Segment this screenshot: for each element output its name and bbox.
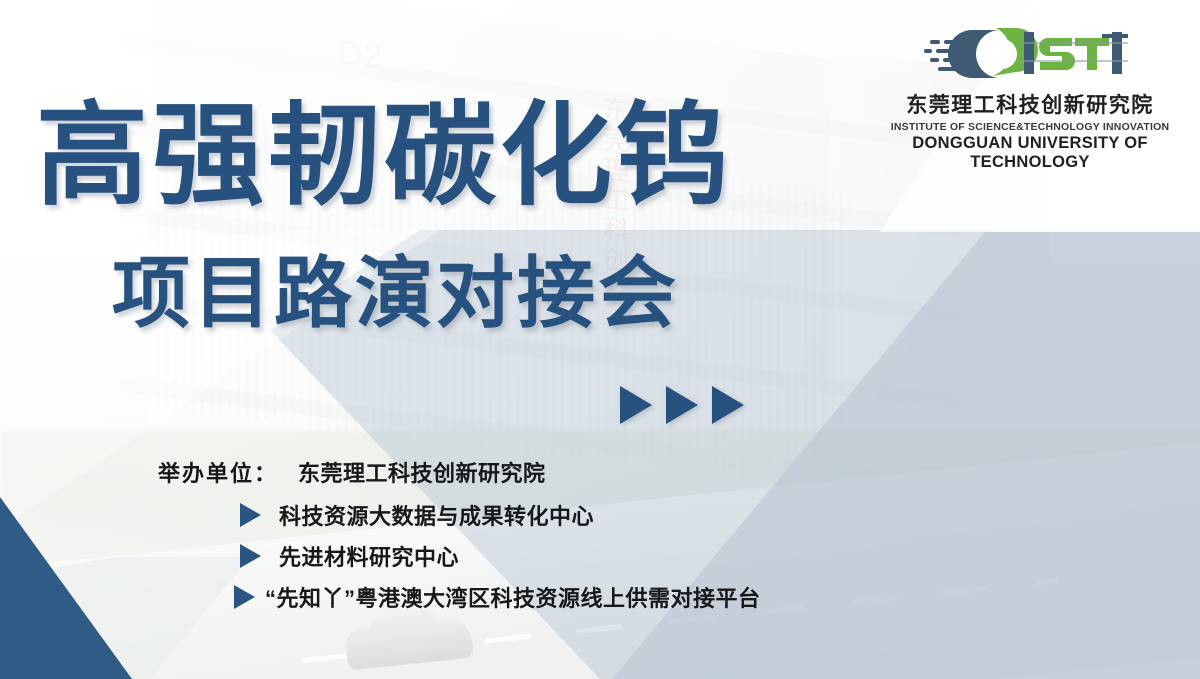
host-organizations: 举办单位：东莞理工科技创新研究院 科技资源大数据与成果转化中心 先进材料研究中心… <box>158 456 761 622</box>
play-triangle-icon <box>666 386 698 424</box>
host-primary-name: 东莞理工科技创新研究院 <box>298 461 546 486</box>
host-item-label: 先进材料研究中心 <box>279 540 459 572</box>
host-list-item: “先知丫”粤港澳大湾区科技资源线上供需对接平台 <box>158 581 761 613</box>
triangle-bullet-icon <box>234 585 255 609</box>
triangle-bullet-icon <box>240 544 261 568</box>
host-primary-line: 举办单位：东莞理工科技创新研究院 <box>158 456 761 488</box>
triangle-bullet-icon <box>240 503 261 527</box>
host-label: 举办单位： <box>158 461 278 486</box>
host-list-item: 先进材料研究中心 <box>158 540 761 572</box>
host-list-item: 科技资源大数据与成果转化中心 <box>158 499 761 531</box>
logo-chinese-name: 东莞理工科技创新研究院 <box>880 94 1180 118</box>
play-triangle-icon <box>712 386 744 424</box>
institute-logo: 东莞理工科技创新研究院 INSTITUTE OF SCIENCE&TECHNOL… <box>880 18 1180 171</box>
isti-logo-icon <box>920 18 1140 86</box>
logo-english-line-1: INSTITUTE OF SCIENCE&TECHNOLOGY INNOVATI… <box>880 121 1180 133</box>
host-item-label: “先知丫”粤港澳大湾区科技资源线上供需对接平台 <box>265 581 761 613</box>
poster-root: D2 东莞理工科创院 <box>0 0 1200 679</box>
poster-subtitle: 项目路演对接会 <box>112 253 679 335</box>
poster-main-title: 高强韧碳化钨 <box>36 97 732 215</box>
triangle-accent-row <box>620 386 744 424</box>
play-triangle-icon <box>620 386 652 424</box>
host-item-label: 科技资源大数据与成果转化中心 <box>279 499 594 531</box>
logo-english-line-2: DONGGUAN UNIVERSITY OF TECHNOLOGY <box>880 134 1180 171</box>
